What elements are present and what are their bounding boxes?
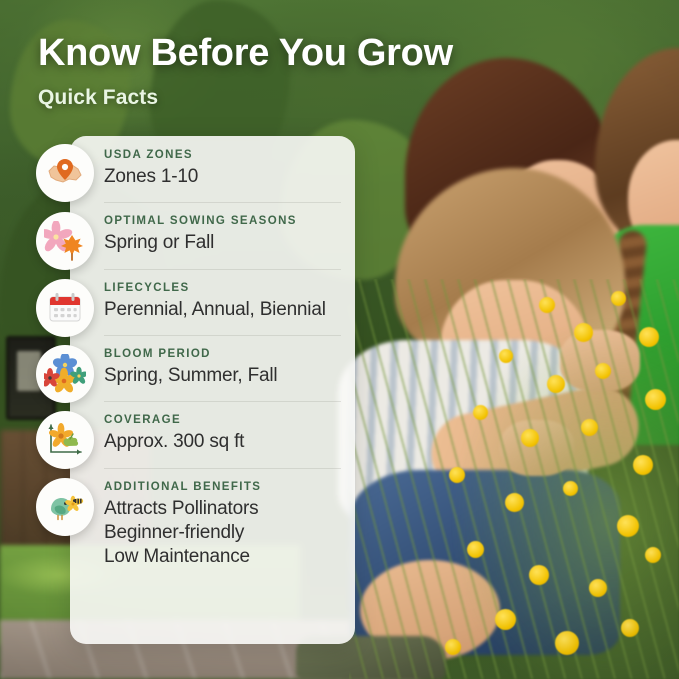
fact-label: Lifecycles [104,282,343,294]
page-title: Know Before You Grow [38,32,453,75]
fact-value: Zones 1-10 [104,165,343,189]
calendar-icon [36,279,94,337]
blossom-maple-leaf-icon [36,212,94,270]
flower-cluster-icon [36,345,94,403]
fact-label: USDA Zones [104,149,343,161]
area-graph-flower-icon [36,411,94,469]
fact-value: Spring, Summer, Fall [104,364,343,388]
fact-row-optimal-sowing-seasons: Optimal Sowing Seasons Spring or Fall [70,202,355,268]
fact-label: Coverage [104,414,343,426]
bird-bee-icon [36,478,94,536]
infographic-stage: Know Before You Grow Quick Facts USDA Zo… [0,0,679,679]
fact-value: Perennial, Annual, Biennial [104,298,343,322]
row-divider [104,269,341,270]
fact-label: Additional Benefits [104,481,343,493]
fact-row-additional-benefits: Additional Benefits Attracts Pollinators… [70,468,355,583]
fact-row-usda-zones: USDA Zones Zones 1-10 [70,136,355,202]
fact-label: Bloom Period [104,348,343,360]
row-divider [104,401,341,402]
fact-label: Optimal Sowing Seasons [104,215,343,227]
page-subtitle: Quick Facts [38,86,158,110]
row-divider [104,468,341,469]
row-divider [104,335,341,336]
usa-map-pin-icon [36,144,94,202]
fact-row-lifecycles: Lifecycles Perennial, Annual, Biennial [70,269,355,335]
fact-value: Spring or Fall [104,231,343,255]
fact-value: Attracts Pollinators Beginner-friendly L… [104,497,343,570]
quick-facts-list: USDA Zones Zones 1-10 [70,136,355,583]
yellow-wildflowers [349,279,679,679]
fact-value: Approx. 300 sq ft [104,430,343,454]
fact-row-coverage: Coverage Approx. 300 sq ft [70,401,355,467]
fact-row-bloom-period: Bloom Period Spring, Summer, Fall [70,335,355,401]
row-divider [104,202,341,203]
